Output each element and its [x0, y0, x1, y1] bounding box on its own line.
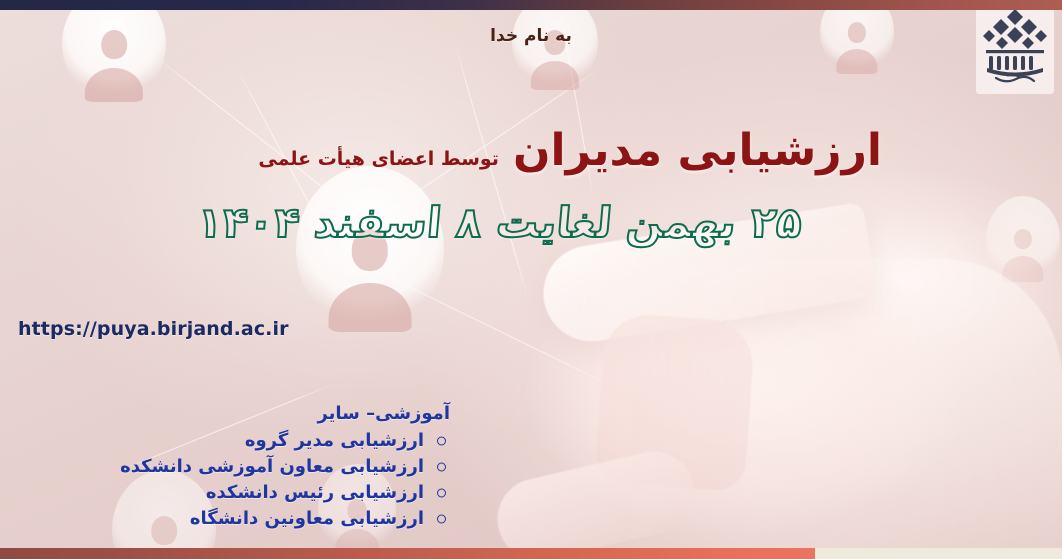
bullet-circle-icon: [437, 463, 446, 472]
promo-banner: به نام خدا ارزشیابی مدیران توسط اعضای هی…: [0, 0, 1062, 559]
evaluation-list: آموزشی– سایر ارزشیابی مدیر گروه ارزشیابی…: [120, 402, 450, 532]
list-item-label: ارزشیابی رئیس دانشکده: [206, 482, 424, 503]
bismillah-text: به نام خدا: [0, 26, 1062, 46]
page-subtitle: توسط اعضای هیأت علمی: [258, 149, 499, 170]
page-title: ارزشیابی مدیران: [513, 128, 882, 174]
evaluation-list-heading: آموزشی– سایر: [120, 402, 450, 426]
top-accent-bar: [0, 0, 1062, 10]
pointing-hand-image: [482, 109, 1062, 559]
person-node: [296, 166, 444, 332]
university-logo: [976, 2, 1054, 94]
evaluation-list-items: ارزشیابی مدیر گروه ارزشیابی معاون آموزشی…: [120, 428, 450, 532]
website-url[interactable]: https://puya.birjand.ac.ir: [18, 318, 289, 340]
bottom-accent-bar: [0, 548, 815, 559]
list-item: ارزشیابی معاونین دانشگاه: [120, 506, 450, 532]
date-range-text: ۲۵ بهمن لغایت ۸ اسفند ۱۴۰۴: [195, 200, 804, 246]
title-row: ارزشیابی مدیران توسط اعضای هیأت علمی: [258, 128, 882, 174]
list-item-label: ارزشیابی معاونین دانشگاه: [190, 508, 424, 529]
bullet-circle-icon: [437, 437, 446, 446]
person-node: [62, 0, 166, 102]
bottom-bar-background: [0, 548, 1062, 559]
list-item: ارزشیابی رئیس دانشکده: [120, 480, 450, 506]
list-item: ارزشیابی مدیر گروه: [120, 428, 450, 454]
list-item: ارزشیابی معاون آموزشی دانشکده: [120, 454, 450, 480]
bullet-circle-icon: [437, 514, 446, 523]
list-item-label: ارزشیابی معاون آموزشی دانشکده: [120, 456, 424, 477]
bullet-circle-icon: [437, 489, 446, 498]
list-item-label: ارزشیابی مدیر گروه: [245, 430, 424, 451]
